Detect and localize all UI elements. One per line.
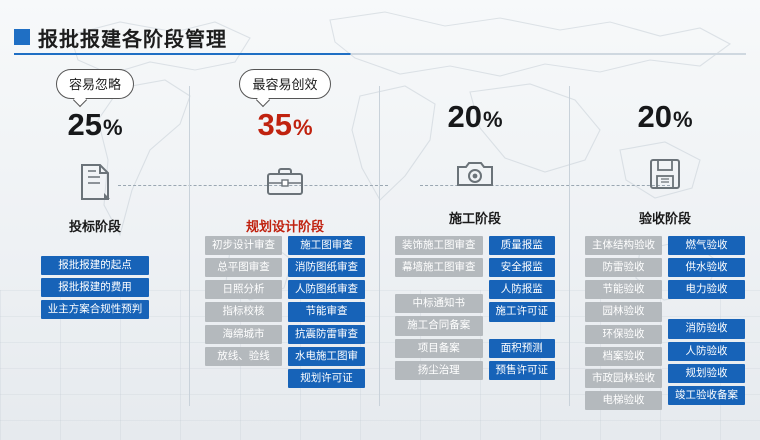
tag-item[interactable]: 档案验收 xyxy=(585,347,662,366)
tag-item[interactable]: 初步设计审查 xyxy=(205,236,282,255)
tag-item[interactable]: 报批报建的起点 xyxy=(41,256,150,275)
tag-item[interactable]: 质量报监 xyxy=(489,236,556,255)
tag-item[interactable]: 水电施工图审 xyxy=(288,347,365,366)
camera-icon-svg xyxy=(455,158,495,190)
tag-group-2-gray: 初步设计审查 总平图审查 日照分析 指标校核 海绵城市 放线、验线 xyxy=(205,236,282,388)
percent-2: 35% xyxy=(257,109,312,140)
percent-value-3: 20 xyxy=(447,101,481,132)
stage-column-planning-design: 最容易创效 35% 规划设计阶段 初步设计审查 总平图审查 日照分析 指标校核 xyxy=(190,60,380,440)
tag-item[interactable]: 市政园林验收 xyxy=(585,369,662,388)
stage-columns: 容易忽略 25% 投标阶段 报批报建的起点 报批报建的费用 业主方案合规性预判 xyxy=(0,60,760,440)
tag-group-3-gray: 装饰施工图审查 幕墙施工图审查 中标通知书 施工合同备案 项目备案 扬尘治理 xyxy=(395,236,483,380)
tag-item[interactable]: 预售许可证 xyxy=(489,361,556,380)
tag-group-4-blue: 燃气验收 供水验收 电力验收 消防验收 人防验收 规划验收 竣工验收备案 xyxy=(668,236,745,410)
tag-gap xyxy=(668,302,745,316)
briefcase-icon-svg xyxy=(265,166,305,198)
tag-item[interactable]: 燃气验收 xyxy=(668,236,745,255)
tag-item[interactable]: 规划验收 xyxy=(668,364,745,383)
tag-item[interactable]: 扬尘治理 xyxy=(395,361,483,380)
tag-item[interactable]: 环保验收 xyxy=(585,325,662,344)
callout-bubble-1: 容易忽略 xyxy=(56,69,134,99)
tag-item[interactable]: 施工许可证 xyxy=(489,302,556,321)
title-text: 报批报建各阶段管理 xyxy=(38,23,227,52)
tag-item[interactable]: 人防验收 xyxy=(668,342,745,361)
tag-gap xyxy=(395,280,483,291)
tag-item[interactable]: 报批报建的费用 xyxy=(41,278,150,297)
tag-item[interactable]: 总平图审查 xyxy=(205,258,282,277)
tag-zone-2: 初步设计审查 总平图审查 日照分析 指标校核 海绵城市 放线、验线 施工图审查 … xyxy=(190,236,380,388)
tag-item[interactable]: 主体结构验收 xyxy=(585,236,662,255)
tag-item[interactable]: 防雷验收 xyxy=(585,258,662,277)
callout-bubble-2: 最容易创效 xyxy=(239,69,330,99)
title-accent-square xyxy=(14,29,30,45)
briefcase-icon xyxy=(263,162,307,202)
floppy-disk-icon xyxy=(643,154,687,194)
tag-item[interactable]: 消防图纸审查 xyxy=(288,258,365,277)
stage-label-4: 验收阶段 xyxy=(639,208,691,227)
tag-group-1-blue: 报批报建的起点 报批报建的费用 业主方案合规性预判 xyxy=(41,256,150,319)
tag-item[interactable]: 业主方案合规性预判 xyxy=(41,300,150,319)
percent-value-2: 35 xyxy=(257,109,291,140)
tag-item[interactable]: 日照分析 xyxy=(205,280,282,299)
percent-symbol-2: % xyxy=(293,117,313,139)
percent-3: 20% xyxy=(447,101,502,132)
page-title: 报批报建各阶段管理 xyxy=(14,20,227,54)
tag-gap xyxy=(489,325,556,336)
tag-item[interactable]: 安全报监 xyxy=(489,258,556,277)
tag-item[interactable]: 施工合同备案 xyxy=(395,316,483,335)
tag-item[interactable]: 竣工验收备案 xyxy=(668,386,745,405)
tag-item[interactable]: 面积预测 xyxy=(489,339,556,358)
tag-zone-1: 报批报建的起点 报批报建的费用 业主方案合规性预判 xyxy=(0,256,190,319)
document-stack-icon-svg xyxy=(78,163,112,201)
percent-symbol-1: % xyxy=(103,117,123,139)
tag-item[interactable]: 人防报监 xyxy=(489,280,556,299)
title-divider xyxy=(14,53,746,55)
floppy-disk-icon-svg xyxy=(648,157,682,191)
tag-item[interactable]: 电力验收 xyxy=(668,280,745,299)
percent-symbol-3: % xyxy=(483,109,503,131)
percent-4: 20% xyxy=(637,101,692,132)
tag-item[interactable]: 放线、验线 xyxy=(205,347,282,366)
tag-item[interactable]: 人防图纸审查 xyxy=(288,280,365,299)
stage-column-bidding: 容易忽略 25% 投标阶段 报批报建的起点 报批报建的费用 业主方案合规性预判 xyxy=(0,60,190,440)
stage-label-3: 施工阶段 xyxy=(449,208,501,227)
tag-item[interactable]: 施工图审查 xyxy=(288,236,365,255)
tag-item[interactable]: 节能验收 xyxy=(585,280,662,299)
tag-item[interactable]: 海绵城市 xyxy=(205,325,282,344)
tag-item[interactable]: 园林验收 xyxy=(585,302,662,321)
percent-symbol-4: % xyxy=(673,109,693,131)
tag-item[interactable]: 节能审查 xyxy=(288,302,365,321)
tag-item[interactable]: 规划许可证 xyxy=(288,369,365,388)
camera-icon xyxy=(453,154,497,194)
stage-column-acceptance: 20% 验收阶段 主体结构验收 防雷验收 节能验收 园林验收 环保验收 档案验收 xyxy=(570,60,760,440)
tag-item[interactable]: 供水验收 xyxy=(668,258,745,277)
percent-value-4: 20 xyxy=(637,101,671,132)
tag-item[interactable]: 幕墙施工图审查 xyxy=(395,258,483,277)
tag-item[interactable]: 电梯验收 xyxy=(585,391,662,410)
percent-1: 25% xyxy=(67,109,122,140)
tag-item[interactable]: 项目备案 xyxy=(395,339,483,358)
tag-item[interactable]: 抗震防雷审查 xyxy=(288,325,365,344)
tag-group-4-gray: 主体结构验收 防雷验收 节能验收 园林验收 环保验收 档案验收 市政园林验收 电… xyxy=(585,236,662,410)
tag-zone-4: 主体结构验收 防雷验收 节能验收 园林验收 环保验收 档案验收 市政园林验收 电… xyxy=(570,236,760,410)
tag-item[interactable]: 消防验收 xyxy=(668,319,745,338)
tag-group-2-blue: 施工图审查 消防图纸审查 人防图纸审查 节能审查 抗震防雷审查 水电施工图审 规… xyxy=(288,236,365,388)
stage-label-2: 规划设计阶段 xyxy=(246,216,324,235)
document-stack-icon xyxy=(73,162,117,202)
tag-group-3-blue: 质量报监 安全报监 人防报监 施工许可证 面积预测 预售许可证 xyxy=(489,236,556,380)
tag-item[interactable]: 装饰施工图审查 xyxy=(395,236,483,255)
stage-column-construction: 20% 施工阶段 装饰施工图审查 幕墙施工图审查 中标通知书 施工合同备案 项目… xyxy=(380,60,570,440)
tag-item[interactable]: 中标通知书 xyxy=(395,294,483,313)
tag-item[interactable]: 指标校核 xyxy=(205,302,282,321)
stage-label-1: 投标阶段 xyxy=(69,216,121,235)
percent-value-1: 25 xyxy=(67,109,101,140)
tag-zone-3: 装饰施工图审查 幕墙施工图审查 中标通知书 施工合同备案 项目备案 扬尘治理 质… xyxy=(380,236,570,380)
